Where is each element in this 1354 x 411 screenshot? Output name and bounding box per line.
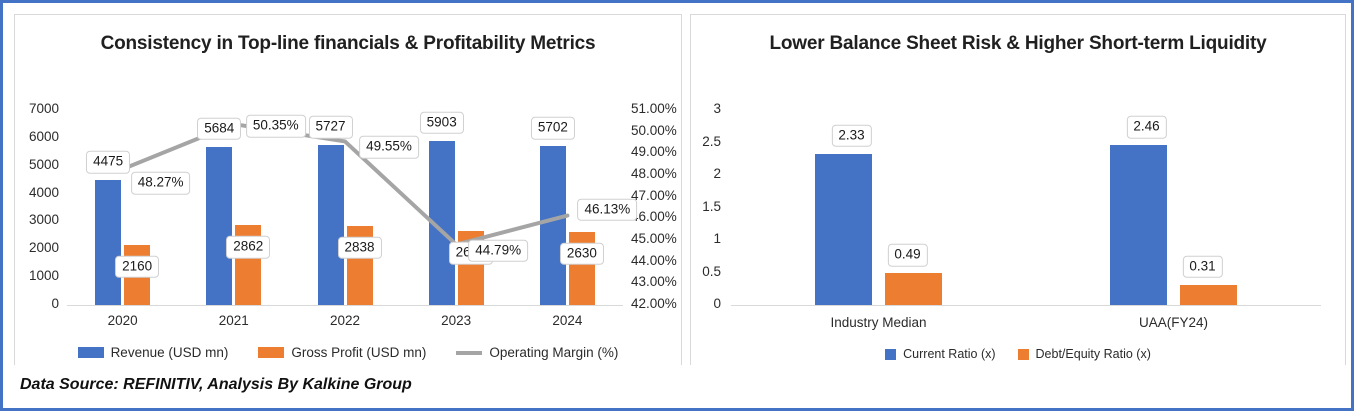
footer-bar: Data Source: REFINITIV, Analysis By Kalk…	[6, 365, 1354, 405]
data-label-revenue: 5903	[420, 111, 464, 134]
y-axis-tick-left: 1000	[15, 268, 59, 283]
bar-revenue	[95, 180, 121, 305]
bar-current-ratio	[815, 154, 872, 305]
y-axis-tick-left: 0	[15, 296, 59, 311]
x-axis-tick-left-chart: 2023	[401, 313, 512, 328]
y-axis-tick-left: 3000	[15, 212, 59, 227]
chart-panel-financials: Consistency in Top-line financials & Pro…	[14, 14, 682, 371]
data-source-text: Data Source: REFINITIV, Analysis By Kalk…	[20, 376, 412, 394]
legend-left: Revenue (USD mn) Gross Profit (USD mn) O…	[15, 345, 681, 360]
data-label-operating-margin: 44.79%	[468, 239, 528, 262]
y-axis-tick-right: 48.00%	[631, 166, 677, 181]
bar-revenue	[540, 146, 566, 305]
y-axis-tick-left: 6000	[15, 129, 59, 144]
y-axis-tick-right-chart: 1.5	[691, 199, 721, 214]
y-axis-tick-right: 43.00%	[631, 274, 677, 289]
y-axis-tick-right: 42.00%	[631, 296, 677, 311]
y-axis-tick-right-chart: 0	[691, 296, 721, 311]
legend-item-revenue[interactable]: Revenue (USD mn)	[78, 345, 229, 360]
y-axis-tick-right: 44.00%	[631, 253, 677, 268]
data-label-operating-margin: 46.13%	[577, 198, 637, 221]
y-axis-tick-right: 47.00%	[631, 188, 677, 203]
bar-debt-equity-ratio	[1180, 285, 1237, 305]
legend-label-current-ratio: Current Ratio (x)	[903, 347, 995, 361]
y-axis-tick-left: 2000	[15, 240, 59, 255]
data-label-operating-margin: 48.27%	[131, 172, 191, 195]
legend-item-debt-equity-ratio[interactable]: Debt/Equity Ratio (x)	[1018, 347, 1151, 361]
chart-panel-liquidity: Lower Balance Sheet Risk & Higher Short-…	[690, 14, 1346, 371]
data-label-operating-margin: 49.55%	[359, 136, 419, 159]
figure-root: Consistency in Top-line financials & Pro…	[0, 0, 1354, 411]
legend-label-revenue: Revenue (USD mn)	[111, 345, 229, 360]
legend-item-current-ratio[interactable]: Current Ratio (x)	[885, 347, 995, 361]
legend-swatch-gross-profit-icon	[258, 347, 284, 358]
plot-area-left: 0100020003000400050006000700042.00%43.00…	[15, 15, 681, 370]
x-axis-tick-category: Industry Median	[731, 315, 1026, 330]
bar-revenue	[206, 147, 232, 305]
legend-swatch-revenue-icon	[78, 347, 104, 358]
plot-area-right: 00.511.522.53Industry Median2.330.49UAA(…	[691, 15, 1345, 370]
y-axis-tick-right: 46.00%	[631, 209, 677, 224]
data-label-operating-margin: 50.35%	[246, 115, 306, 138]
data-label-gross-profit: 2862	[226, 236, 270, 259]
data-label-revenue: 5702	[531, 117, 575, 140]
data-label-current-ratio: 2.46	[1126, 116, 1166, 139]
data-label-debt-equity-ratio: 0.49	[887, 244, 927, 267]
y-axis-tick-right-chart: 0.5	[691, 264, 721, 279]
data-label-gross-profit: 2160	[115, 256, 159, 279]
data-label-revenue: 4475	[86, 151, 130, 174]
y-axis-tick-right-chart: 3	[691, 101, 721, 116]
bar-current-ratio	[1110, 145, 1167, 305]
charts-container: Consistency in Top-line financials & Pro…	[6, 6, 1354, 371]
legend-item-gross-profit[interactable]: Gross Profit (USD mn)	[258, 345, 426, 360]
data-label-revenue: 5727	[308, 116, 352, 139]
bar-revenue	[429, 141, 455, 305]
y-axis-tick-right: 49.00%	[631, 144, 677, 159]
data-label-debt-equity-ratio: 0.31	[1182, 256, 1222, 279]
x-axis-line	[67, 305, 623, 306]
data-label-current-ratio: 2.33	[831, 124, 871, 147]
data-label-revenue: 5684	[197, 117, 241, 140]
legend-right: Current Ratio (x) Debt/Equity Ratio (x)	[691, 347, 1345, 361]
x-axis-tick-left-chart: 2024	[512, 313, 623, 328]
x-axis-tick-category: UAA(FY24)	[1026, 315, 1321, 330]
y-axis-tick-right-chart: 2	[691, 166, 721, 181]
legend-swatch-current-ratio-icon	[885, 349, 896, 360]
data-label-gross-profit: 2838	[337, 237, 381, 260]
legend-label-operating-margin: Operating Margin (%)	[489, 345, 618, 360]
x-axis-tick-left-chart: 2022	[289, 313, 400, 328]
y-axis-tick-left: 7000	[15, 101, 59, 116]
y-axis-tick-right: 51.00%	[631, 101, 677, 116]
bar-debt-equity-ratio	[885, 273, 942, 305]
legend-label-gross-profit: Gross Profit (USD mn)	[291, 345, 426, 360]
data-label-gross-profit: 2630	[560, 242, 604, 265]
y-axis-tick-right-chart: 2.5	[691, 134, 721, 149]
x-axis-tick-left-chart: 2021	[178, 313, 289, 328]
legend-item-operating-margin[interactable]: Operating Margin (%)	[456, 345, 618, 360]
legend-swatch-operating-margin-icon	[456, 351, 482, 355]
legend-swatch-debt-equity-ratio-icon	[1018, 349, 1029, 360]
y-axis-tick-left: 5000	[15, 157, 59, 172]
y-axis-tick-right: 50.00%	[631, 123, 677, 138]
y-axis-tick-right: 45.00%	[631, 231, 677, 246]
x-axis-tick-left-chart: 2020	[67, 313, 178, 328]
bar-revenue	[318, 145, 344, 305]
legend-label-debt-equity-ratio: Debt/Equity Ratio (x)	[1036, 347, 1151, 361]
x-axis-line-right-chart	[731, 305, 1321, 306]
y-axis-tick-right-chart: 1	[691, 231, 721, 246]
y-axis-tick-left: 4000	[15, 185, 59, 200]
